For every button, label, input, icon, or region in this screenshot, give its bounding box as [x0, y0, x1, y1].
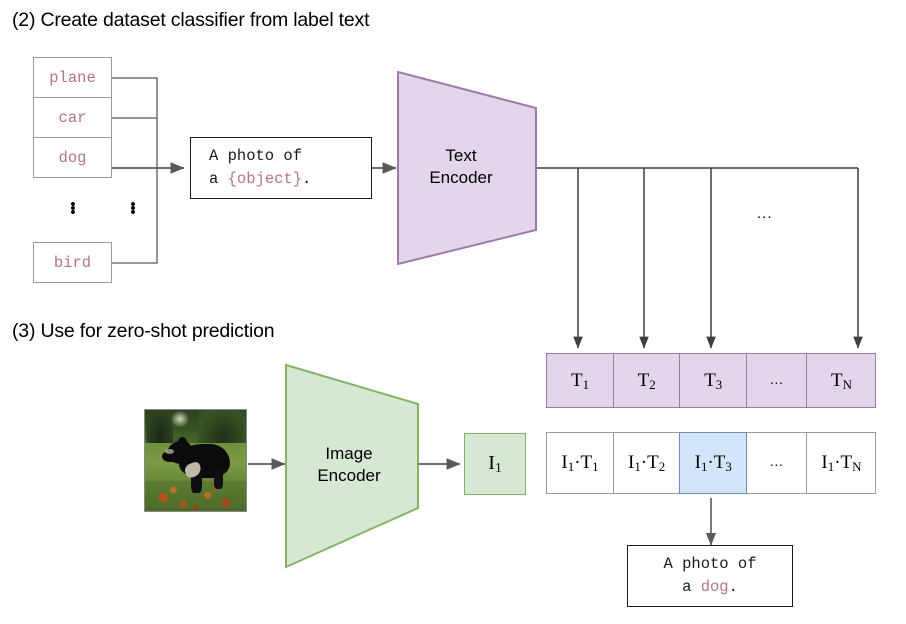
text-embedding-cell[interactable]: T2 — [613, 353, 681, 408]
image-encoder[interactable]: Image Encoder — [283, 362, 423, 570]
prompt-object-token: {object} — [228, 170, 302, 188]
result-line-1: A photo of — [628, 553, 792, 576]
result-line-2-prefix: a — [682, 578, 701, 596]
text-embedding-cell[interactable]: T3 — [679, 353, 747, 408]
similarity-cell[interactable]: I1·T2 — [613, 432, 681, 494]
text-encoder-label: Text Encoder — [388, 145, 534, 189]
image-embedding-label: I1 — [488, 452, 501, 476]
image-encoder-line-2: Encoder — [279, 465, 419, 487]
result-predicted-token: dog — [701, 578, 729, 596]
text-embeddings-row: T1 T2 T3 ... TN — [546, 353, 876, 408]
similarity-cell[interactable]: I1·TN — [806, 432, 876, 494]
prompt-template-box[interactable]: A photo of a {object}. — [190, 137, 372, 199]
clip-figure: (2) Create dataset classifier from label… — [0, 0, 906, 624]
cell-label: I1·T3 — [695, 452, 732, 474]
similarity-cell-highlighted[interactable]: I1·T3 — [679, 432, 747, 494]
prompt-line-2: a {object}. — [209, 168, 371, 191]
text-embedding-cell[interactable]: T1 — [546, 353, 614, 408]
cell-label: T3 — [704, 370, 722, 392]
text-encoder[interactable]: Text Encoder — [396, 60, 542, 272]
section-3-heading: (3) Use for zero-shot prediction — [12, 320, 274, 343]
prompt-line-2-suffix: . — [302, 170, 311, 188]
cell-label: T2 — [638, 370, 656, 392]
cell-label: I1·T2 — [628, 452, 665, 474]
cell-label: TN — [831, 370, 852, 392]
text-encoder-bus-ellipsis: ... — [757, 205, 773, 222]
cell-label: ... — [770, 373, 784, 389]
text-encoder-line-2: Encoder — [388, 167, 534, 189]
cell-label: I1·TN — [821, 452, 861, 474]
input-image-photo[interactable] — [144, 409, 247, 512]
cell-label: T1 — [571, 370, 589, 392]
result-line-2-suffix: . — [729, 578, 738, 596]
similarity-cell[interactable]: I1·T1 — [546, 432, 614, 494]
similarity-scores-row: I1·T1 I1·T2 I1·T3 ... I1·TN — [546, 432, 876, 494]
prompt-line-2-prefix: a — [209, 170, 228, 188]
cell-label: I1·T1 — [561, 452, 598, 474]
predicted-caption-box[interactable]: A photo of a dog. — [627, 545, 793, 607]
image-embedding-box[interactable]: I1 — [464, 433, 526, 495]
image-encoder-line-1: Image — [279, 443, 419, 465]
prompt-line-1: A photo of — [209, 145, 371, 168]
similarity-ellipsis-cell: ... — [746, 432, 808, 494]
image-encoder-label: Image Encoder — [279, 443, 419, 487]
text-encoder-line-1: Text — [388, 145, 534, 167]
result-line-2: a dog. — [628, 576, 792, 599]
cell-label: ... — [770, 455, 784, 471]
text-embedding-cell[interactable]: TN — [806, 353, 876, 408]
text-embedding-ellipsis-cell: ... — [746, 353, 808, 408]
